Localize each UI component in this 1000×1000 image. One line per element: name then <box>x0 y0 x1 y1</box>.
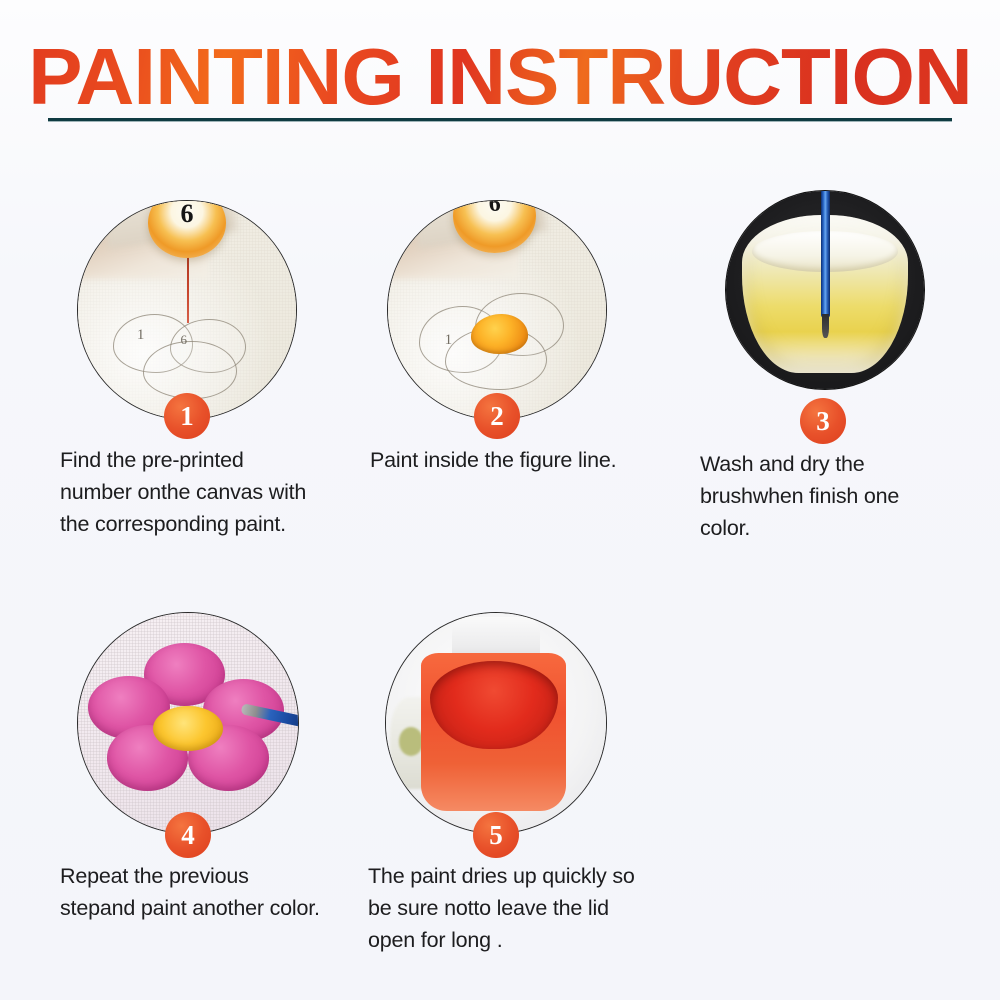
painting-instruction-poster: PAINTING INSTRUCTION 1 6 <box>0 0 1000 1000</box>
step-5: 5 The paint dries up quickly so be sure … <box>368 612 668 956</box>
step-1-photo-wrap: 1 6 6 1 <box>60 198 360 430</box>
step-2-badge: 2 <box>474 393 520 439</box>
brush-handle-icon <box>821 190 830 318</box>
step-2-caption: Paint inside the figure line. <box>370 444 650 476</box>
step-3-caption: Wash and dry the brushwhen finish one co… <box>700 448 900 544</box>
step-1: 1 6 6 1 Find the pre-printed number onth… <box>60 198 360 540</box>
paint-blob-icon <box>471 314 528 353</box>
step-5-caption: The paint dries up quickly so be sure no… <box>368 860 650 956</box>
step-3-image <box>725 190 925 390</box>
step-3: 3 Wash and dry the brushwhen finish one … <box>700 190 1000 544</box>
step-4-caption: Repeat the previous stepand paint anothe… <box>60 860 328 924</box>
step-5-badge: 5 <box>473 812 519 858</box>
step-1-caption: Find the pre-printed number onthe canvas… <box>60 444 312 540</box>
step-5-image <box>385 612 607 834</box>
step-2: 1 6 2 Paint inside the figure line. <box>370 198 670 476</box>
step-3-badge: 3 <box>800 398 846 444</box>
step-2-image: 1 6 <box>387 200 607 420</box>
step-3-photo-wrap: 3 <box>700 190 1000 422</box>
pot-number-label: 6 <box>148 200 226 229</box>
steps-grid: 1 6 6 1 Find the pre-printed number onth… <box>0 0 1000 1000</box>
step-4-photo-wrap: 4 <box>60 612 360 844</box>
step-4: 4 Repeat the previous stepand paint anot… <box>60 612 360 924</box>
step-4-image <box>77 612 299 834</box>
step-4-badge: 4 <box>165 812 211 858</box>
step-2-photo-wrap: 1 6 2 <box>370 198 670 430</box>
step-5-photo-wrap: 5 <box>368 612 668 844</box>
step-1-badge: 1 <box>164 393 210 439</box>
step-1-image: 1 6 6 <box>77 200 297 420</box>
flower-icon <box>96 657 281 793</box>
brush-tip-icon <box>822 314 829 338</box>
pot-number-label: 6 <box>453 200 536 218</box>
